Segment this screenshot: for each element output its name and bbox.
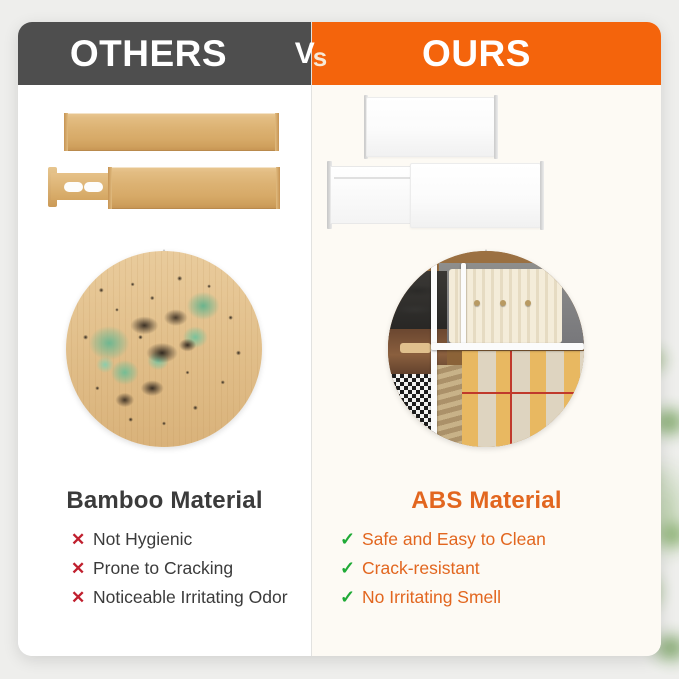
bamboo-arm-slot-left [64, 182, 83, 192]
others-feature-list: ✕ Not Hygienic ✕ Prone to Cracking ✕ Not… [18, 529, 311, 608]
drawer-plaid-fabric [462, 351, 584, 447]
comparison-infographic: OTHERS Bamboo Material [0, 0, 679, 679]
others-header-title: OTHERS [70, 33, 227, 75]
bamboo-arm-slot-right [84, 182, 103, 192]
check-icon: ✓ [340, 529, 362, 550]
list-item: ✓ Crack-resistant [340, 558, 661, 579]
drawer-photo-image [388, 251, 584, 447]
others-text-block: Bamboo Material ✕ Not Hygienic ✕ Prone t… [18, 473, 311, 608]
cross-icon: ✕ [71, 559, 93, 579]
abs-divider-bar-top [366, 97, 495, 157]
feature-label: Noticeable Irritating Odor [93, 587, 288, 608]
moldy-bamboo-photo [66, 251, 262, 447]
ours-feature-list: ✓ Safe and Easy to Clean ✓ Crack-resista… [312, 529, 661, 608]
ours-header-bar: OURS [312, 22, 661, 85]
abs-photo-area [312, 245, 661, 473]
bamboo-product-illustration [18, 85, 311, 245]
abs-divider-bar-bottom [410, 163, 541, 228]
list-item: ✕ Prone to Cracking [71, 558, 311, 579]
abs-divider-end-cap [540, 161, 544, 230]
check-icon: ✓ [340, 587, 362, 608]
drawer-cable-coil [388, 271, 447, 338]
bamboo-divider-bar-bottom [108, 167, 280, 209]
drawer-divider-rail [431, 263, 437, 447]
drawer-cable-knit-sweater [449, 269, 563, 343]
bamboo-material-title: Bamboo Material [18, 487, 311, 515]
abs-material-title: ABS Material [312, 487, 661, 515]
abs-divider-extension-arm [330, 166, 414, 224]
feature-label: Crack-resistant [362, 558, 480, 579]
feature-label: Safe and Easy to Clean [362, 529, 546, 550]
cross-icon: ✕ [71, 530, 93, 550]
drawer-divider-rail [461, 263, 466, 345]
check-icon: ✓ [340, 558, 362, 579]
abs-arm-groove [334, 177, 412, 179]
drawer-brown-highlight [400, 343, 431, 353]
feature-label: No Irritating Smell [362, 587, 501, 608]
comparison-card: OTHERS Bamboo Material [18, 22, 661, 656]
ours-text-block: ABS Material ✓ Safe and Easy to Clean ✓ … [312, 473, 661, 608]
list-item: ✕ Noticeable Irritating Odor [71, 587, 311, 608]
abs-product-illustration [312, 85, 661, 245]
sweater-button [500, 300, 506, 306]
list-item: ✓ Safe and Easy to Clean [340, 529, 661, 550]
organized-drawer-photo [388, 251, 584, 447]
plaid-red-stripe-vertical [510, 351, 512, 447]
feature-label: Prone to Cracking [93, 558, 233, 579]
feature-label: Not Hygienic [93, 529, 192, 550]
abs-divider-end-cap [494, 95, 498, 159]
drawer-divider-rail [431, 343, 584, 350]
others-header-bar: OTHERS [18, 22, 311, 85]
ours-header-title: OURS [422, 33, 531, 75]
others-panel: OTHERS Bamboo Material [18, 22, 311, 656]
ours-panel: OURS [312, 22, 661, 656]
list-item: ✕ Not Hygienic [71, 529, 311, 550]
plaid-red-stripe-horizontal [462, 392, 584, 394]
bamboo-photo-area [18, 245, 311, 473]
mold-board-image [66, 251, 262, 447]
cross-icon: ✕ [71, 588, 93, 608]
list-item: ✓ No Irritating Smell [340, 587, 661, 608]
bamboo-divider-bar-top [64, 113, 279, 151]
